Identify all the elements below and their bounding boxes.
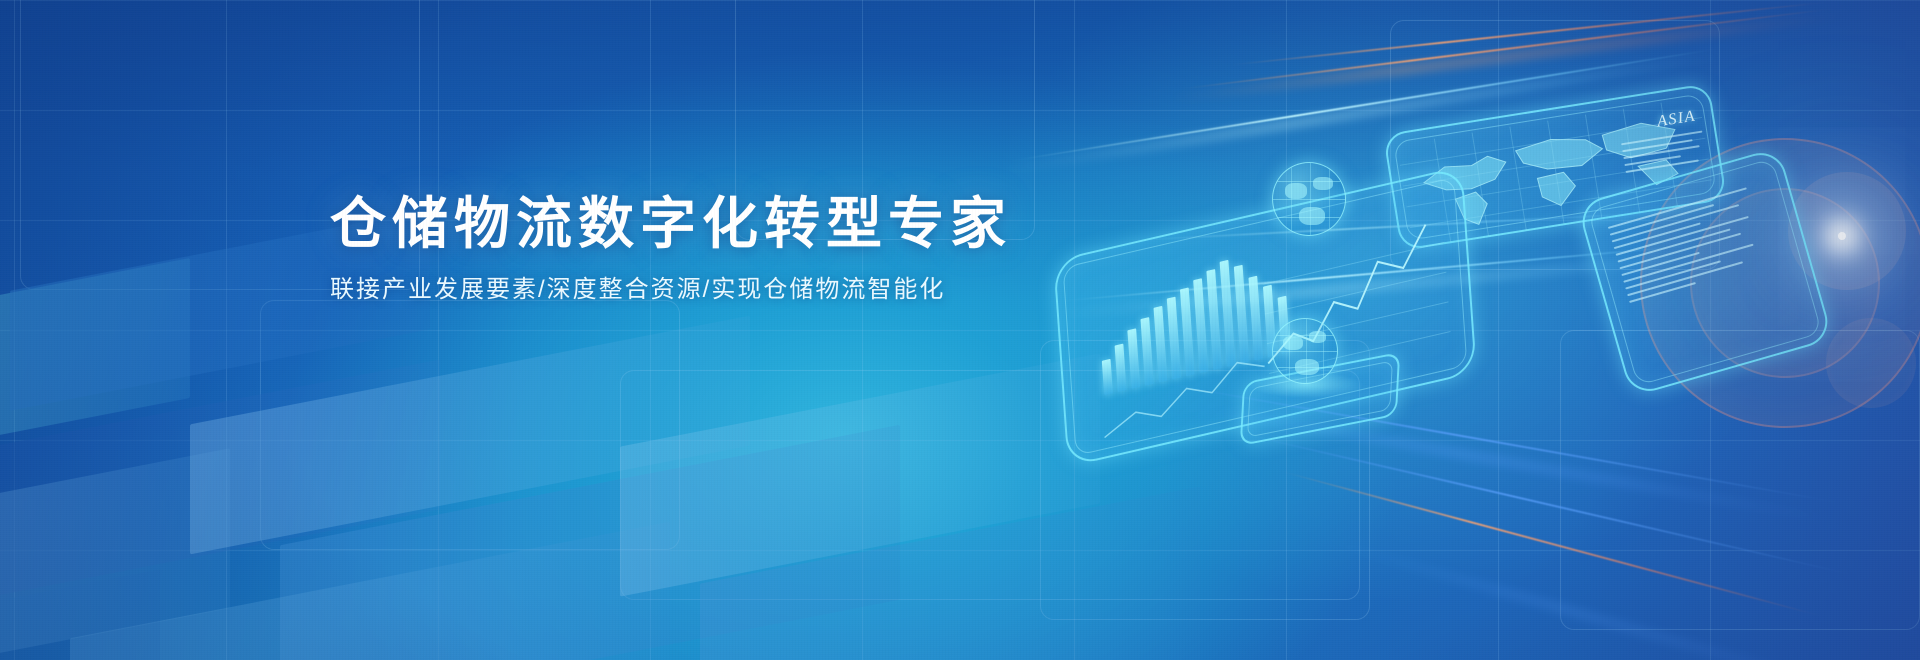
page-title: 仓储物流数字化转型专家	[330, 196, 1230, 252]
hero-banner: ASIA	[0, 0, 1920, 660]
page-subtitle: 联接产业发展要素/深度整合资源/实现仓储物流智能化	[330, 276, 1230, 305]
banner-copy: 仓储物流数字化转型专家 联接产业发展要素/深度整合资源/实现仓储物流智能化	[330, 196, 1230, 305]
globe-glow-pad	[1248, 372, 1364, 398]
hud-graphic: ASIA	[0, 0, 1920, 660]
globe-upper	[1272, 162, 1346, 236]
